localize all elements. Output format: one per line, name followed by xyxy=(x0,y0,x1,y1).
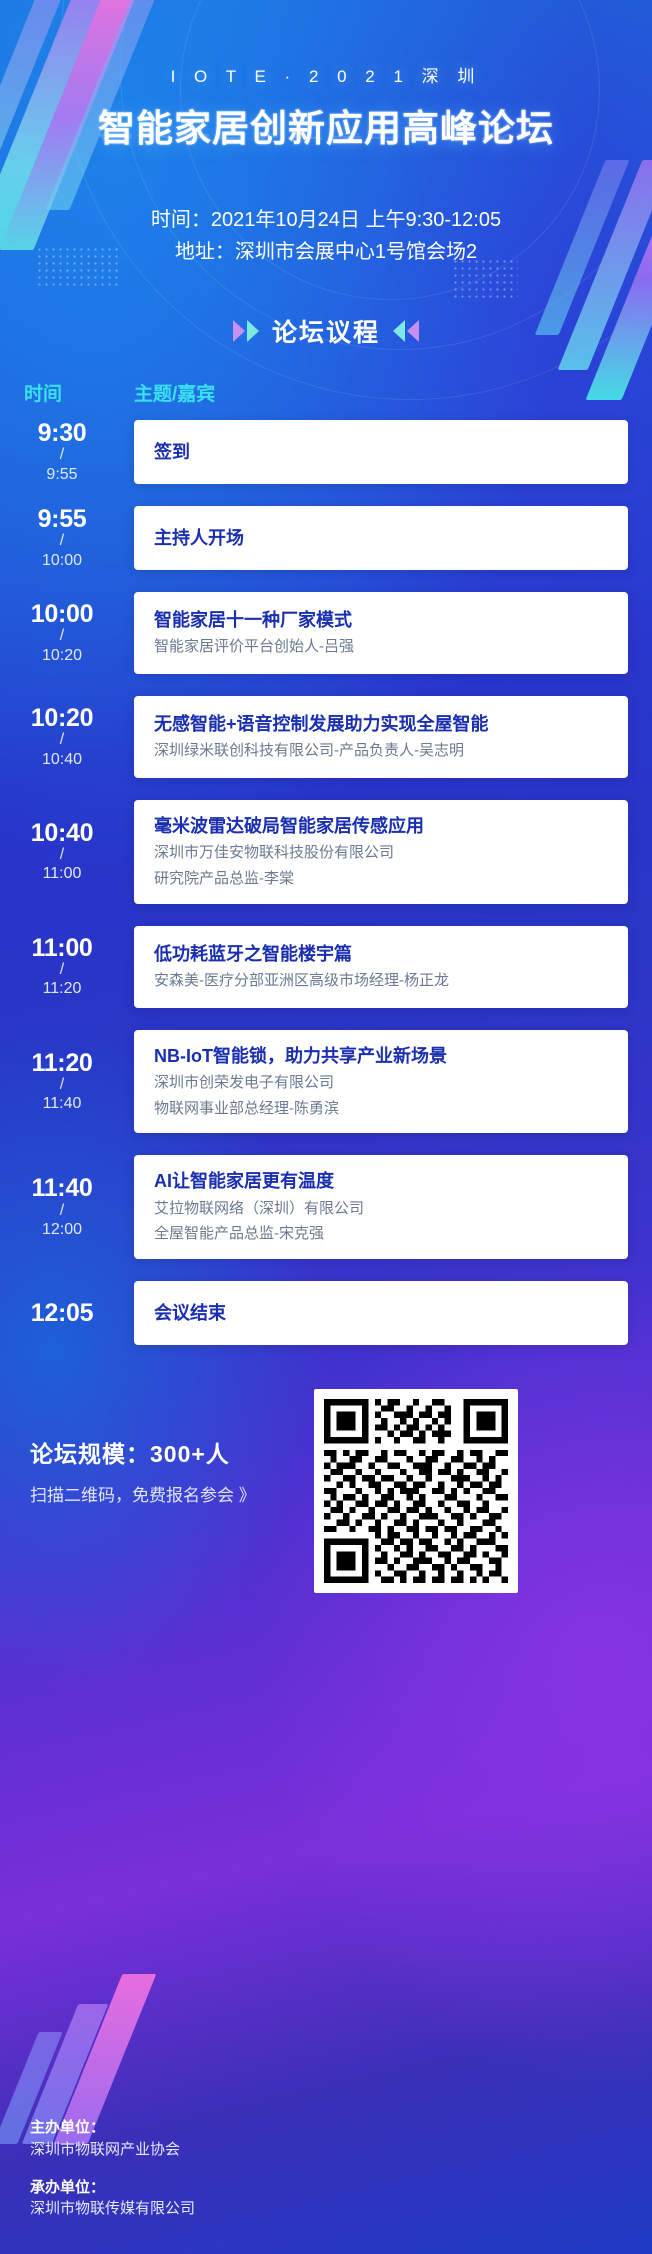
time-separator: / xyxy=(24,532,100,550)
table-row: 9:30 / 9:55 签到 xyxy=(0,420,628,484)
session-card[interactable]: 毫米波雷达破局智能家居传感应用 深圳市万佳安物联科技股份有限公司 研究院产品总监… xyxy=(134,800,628,904)
time-separator: / xyxy=(24,731,100,749)
time-start: 11:20 xyxy=(24,1050,100,1076)
table-row: 10:00 / 10:20 智能家居十一种厂家模式 智能家居评价平台创始人-吕强 xyxy=(0,592,628,674)
session-speaker: 深圳市创荣发电子有限公司 xyxy=(154,1072,608,1094)
time-cell: 9:55 / 10:00 xyxy=(24,506,106,570)
time-start: 12:05 xyxy=(24,1300,100,1326)
time-end: 10:20 xyxy=(24,646,100,665)
time-separator: / xyxy=(24,446,100,464)
time-separator: / xyxy=(24,1076,100,1094)
table-row: 11:00 / 11:20 低功耗蓝牙之智能楼宇篇 安森美-医疗分部亚洲区高级市… xyxy=(0,926,628,1008)
session-card[interactable]: 低功耗蓝牙之智能楼宇篇 安森美-医疗分部亚洲区高级市场经理-杨正龙 xyxy=(134,926,628,1008)
session-title: AI让智能家居更有温度 xyxy=(154,1169,608,1193)
double-arrow-right-icon xyxy=(233,320,259,342)
session-speaker: 物联网事业部总经理-陈勇滨 xyxy=(154,1098,608,1120)
time-end: 10:40 xyxy=(24,750,100,769)
session-title: 签到 xyxy=(154,440,608,464)
time-start: 10:20 xyxy=(24,705,100,731)
time-cell: 11:00 / 11:20 xyxy=(24,935,106,999)
table-row: 10:40 / 11:00 毫米波雷达破局智能家居传感应用 深圳市万佳安物联科技… xyxy=(0,800,628,904)
time-separator: / xyxy=(24,627,100,645)
agenda-table-header: 时间 主题/嘉宾 xyxy=(0,379,628,406)
host-label: 主办单位： xyxy=(30,2117,195,2139)
session-card[interactable]: 无感智能+语音控制发展助力实现全屋智能 深圳绿米联创科技有限公司-产品负责人-吴… xyxy=(134,696,628,778)
column-header-topic: 主题/嘉宾 xyxy=(106,379,215,406)
time-end: 10:00 xyxy=(24,551,100,570)
session-card[interactable]: NB-IoT智能锁，助力共享产业新场景 深圳市创荣发电子有限公司 物联网事业部总… xyxy=(134,1030,628,1134)
table-row: 12:05 会议结束 xyxy=(0,1281,628,1345)
time-start: 10:40 xyxy=(24,820,100,846)
poster-header: I O T E · 2 0 2 1 深 圳 智能家居创新应用高峰论坛 智能家居创… xyxy=(0,0,652,269)
host-value: 深圳市物联网产业协会 xyxy=(30,2139,195,2161)
time-cell: 11:40 / 12:00 xyxy=(24,1175,106,1239)
qr-code-icon xyxy=(324,1399,508,1583)
time-end: 12:00 xyxy=(24,1220,100,1239)
session-speaker: 深圳市万佳安物联科技股份有限公司 xyxy=(154,842,608,864)
time-end: 11:40 xyxy=(24,1094,100,1113)
qr-code[interactable] xyxy=(314,1389,518,1593)
session-card[interactable]: AI让智能家居更有温度 艾拉物联网络（深圳）有限公司 全屋智能产品总监-宋克强 xyxy=(134,1155,628,1259)
organizer-value: 深圳市物联传媒有限公司 xyxy=(30,2198,195,2220)
time-cell: 12:05 xyxy=(24,1300,106,1326)
time-start: 9:30 xyxy=(24,420,100,446)
time-cell: 10:40 / 11:00 xyxy=(24,820,106,884)
time-cell: 11:20 / 11:40 xyxy=(24,1050,106,1114)
time-separator: / xyxy=(24,961,100,979)
session-title: 智能家居十一种厂家模式 xyxy=(154,608,608,632)
time-end: 11:00 xyxy=(24,864,100,883)
poster-root: I O T E · 2 0 2 1 深 圳 智能家居创新应用高峰论坛 智能家居创… xyxy=(0,0,652,2254)
session-title: 会议结束 xyxy=(154,1301,608,1325)
time-start: 11:40 xyxy=(24,1175,100,1201)
registration-text: 论坛规模：300+人 扫描二维码，免费报名参会 》 xyxy=(30,1389,256,1506)
session-title: NB-IoT智能锁，助力共享产业新场景 xyxy=(154,1044,608,1068)
session-title: 主持人开场 xyxy=(154,526,608,550)
column-header-time: 时间 xyxy=(24,379,106,406)
time-cell: 10:00 / 10:20 xyxy=(24,601,106,665)
forum-scale-label: 论坛规模：300+人 xyxy=(30,1435,256,1469)
session-speaker: 安森美-医疗分部亚洲区高级市场经理-杨正龙 xyxy=(154,970,608,992)
event-meta: 时间：2021年10月24日 上午9:30-12:05 地址：深圳市会展中心1号… xyxy=(0,204,652,269)
registration-section: 论坛规模：300+人 扫描二维码，免费报名参会 》 xyxy=(0,1389,652,1593)
event-kicker: I O T E · 2 0 2 1 深 圳 xyxy=(0,62,652,87)
session-speaker: 全屋智能产品总监-宋克强 xyxy=(154,1223,608,1245)
session-speaker: 智能家居评价平台创始人-吕强 xyxy=(154,636,608,658)
time-cell: 9:30 / 9:55 xyxy=(24,420,106,484)
agenda-heading-label: 论坛议程 xyxy=(272,313,380,349)
session-speaker: 研究院产品总监-李棠 xyxy=(154,868,608,890)
session-card[interactable]: 主持人开场 xyxy=(134,506,628,570)
time-separator: / xyxy=(24,846,100,864)
session-title: 毫米波雷达破局智能家居传感应用 xyxy=(154,814,608,838)
double-arrow-left-icon xyxy=(393,320,419,342)
table-row: 11:20 / 11:40 NB-IoT智能锁，助力共享产业新场景 深圳市创荣发… xyxy=(0,1030,628,1134)
poster-footer: 主办单位： 深圳市物联网产业协会 承办单位： 深圳市物联传媒有限公司 xyxy=(30,2117,195,2220)
session-title: 无感智能+语音控制发展助力实现全屋智能 xyxy=(154,712,608,736)
session-speaker: 深圳绿米联创科技有限公司-产品负责人-吴志明 xyxy=(154,740,608,762)
time-start: 9:55 xyxy=(24,506,100,532)
session-card[interactable]: 会议结束 xyxy=(134,1281,628,1345)
time-cell: 10:20 / 10:40 xyxy=(24,705,106,769)
session-card[interactable]: 签到 xyxy=(134,420,628,484)
time-start: 10:00 xyxy=(24,601,100,627)
table-row: 9:55 / 10:00 主持人开场 xyxy=(0,506,628,570)
time-end: 11:20 xyxy=(24,979,100,998)
scan-prompt: 扫描二维码，免费报名参会 》 xyxy=(30,1481,256,1506)
session-speaker: 艾拉物联网络（深圳）有限公司 xyxy=(154,1198,608,1220)
table-row: 11:40 / 12:00 AI让智能家居更有温度 艾拉物联网络（深圳）有限公司… xyxy=(0,1155,628,1259)
title-reflection: 智能家居创新应用高峰论坛 xyxy=(0,134,652,146)
organizer-label: 承办单位： xyxy=(30,2177,195,2199)
time-separator: / xyxy=(24,1202,100,1220)
time-start: 11:00 xyxy=(24,935,100,961)
session-card[interactable]: 智能家居十一种厂家模式 智能家居评价平台创始人-吕强 xyxy=(134,592,628,674)
table-row: 10:20 / 10:40 无感智能+语音控制发展助力实现全屋智能 深圳绿米联创… xyxy=(0,696,628,778)
agenda-table: 时间 主题/嘉宾 9:30 / 9:55 签到 9:55 / 10:00 主持人… xyxy=(0,379,652,1345)
event-time: 时间：2021年10月24日 上午9:30-12:05 xyxy=(0,204,652,236)
session-title: 低功耗蓝牙之智能楼宇篇 xyxy=(154,942,608,966)
agenda-heading: 论坛议程 xyxy=(0,313,652,349)
time-end: 9:55 xyxy=(24,465,100,484)
event-address: 地址：深圳市会展中心1号馆会场2 xyxy=(0,236,652,268)
